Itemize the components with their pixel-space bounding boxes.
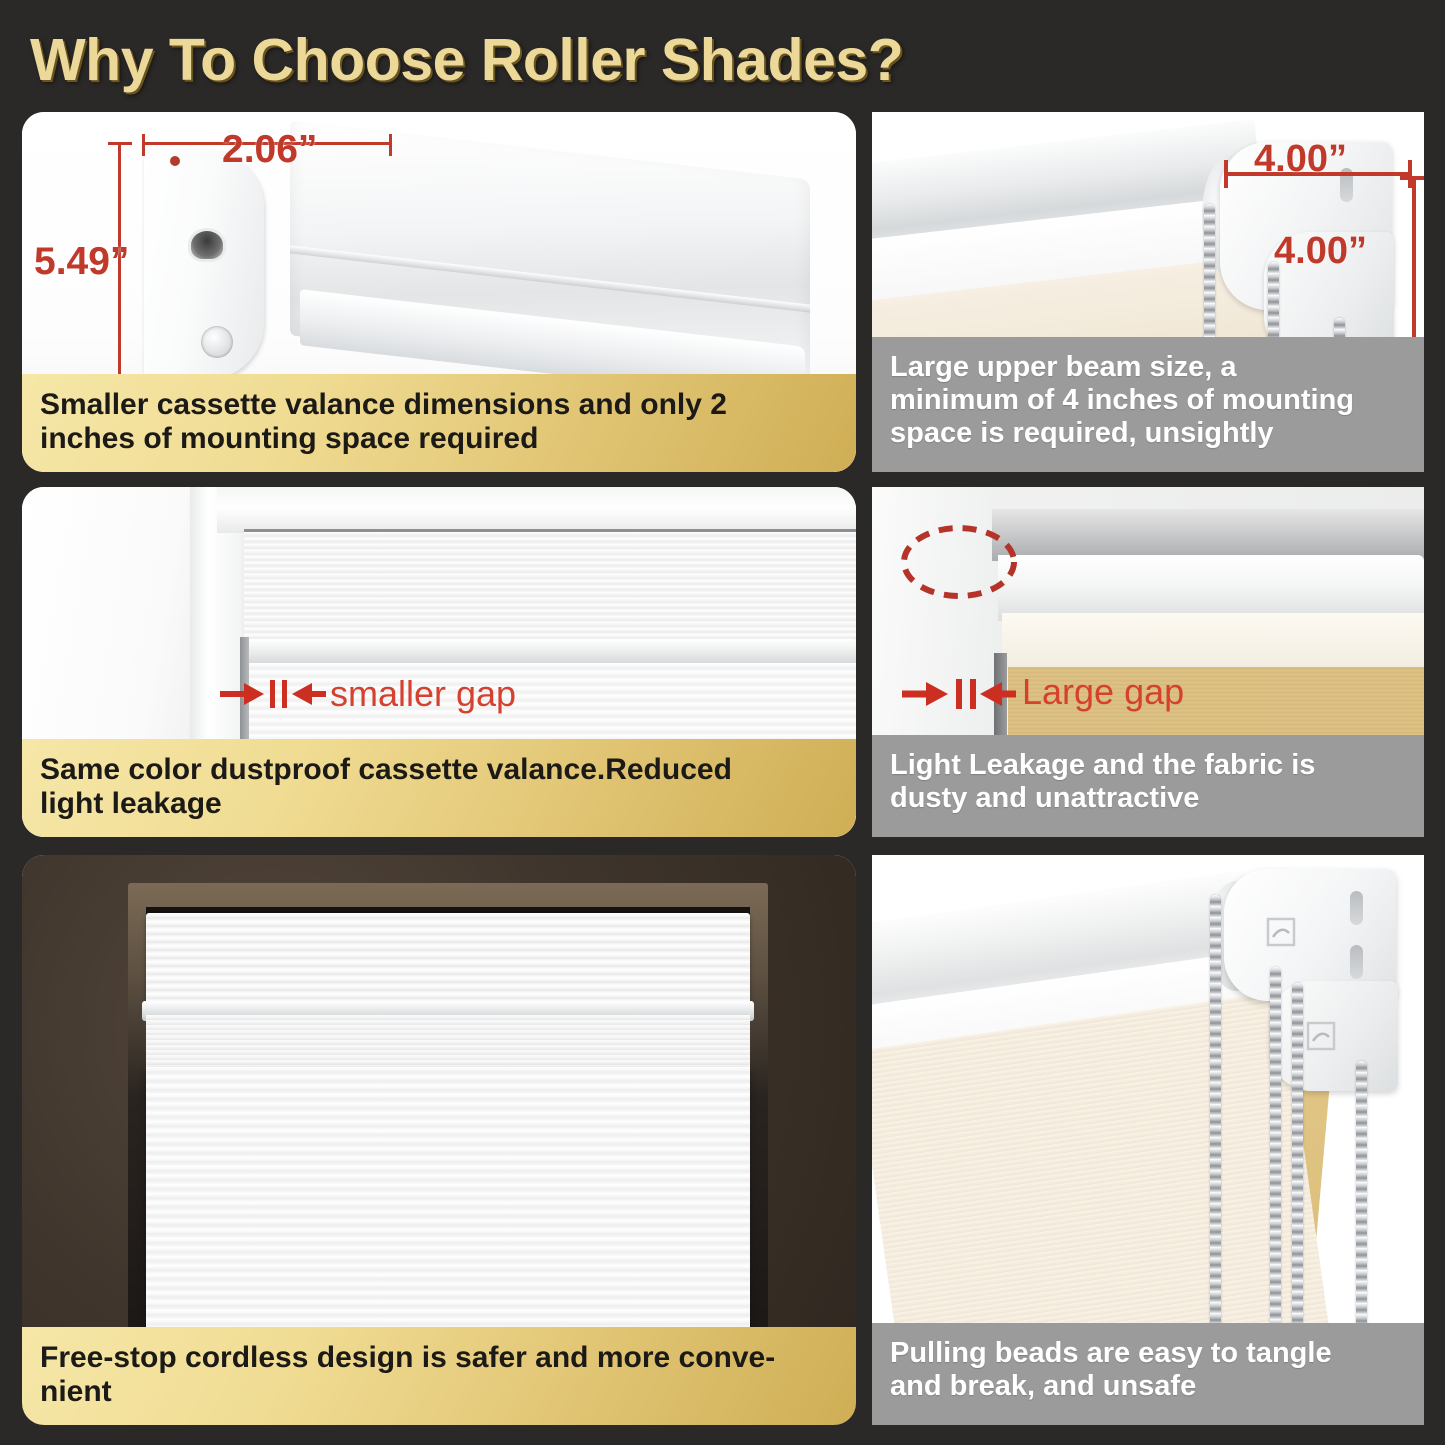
caption-line-1: Light Leakage and the fabric is (890, 749, 1406, 782)
screw-icon (201, 326, 233, 358)
bracket-slot-icon (1350, 945, 1363, 979)
caption-line-2: minimum of 4 inches of mounting (890, 384, 1406, 417)
caption-line-1: Free-stop cordless design is safer and m… (40, 1341, 838, 1375)
caption-line-2: dusty and unattractive (890, 782, 1406, 815)
cassette-valance (146, 913, 750, 1005)
caption-cassette-valance-dimensions: Smaller cassette valance dimensions and … (22, 374, 856, 472)
caption-line-3: space is required, unsightly (890, 417, 1406, 450)
gap-callout-label: Large gap (1022, 671, 1184, 713)
width-dimension-label: 4.00” (1254, 138, 1347, 181)
valance-end-cap (144, 150, 264, 380)
caption-line-2: light leakage (40, 787, 838, 821)
panel-dustproof-cassette-valance: smaller gap Same color dustproof cassett… (22, 487, 856, 837)
panel-cordless-free-stop-design: Free-stop cordless design is safer and m… (22, 855, 856, 1425)
caption-line-2: and break, and unsafe (890, 1370, 1406, 1403)
width-dim-tick-right (389, 134, 392, 156)
height-dim-tick-top (1400, 176, 1424, 180)
cassette-valance (244, 529, 856, 647)
bracket-slot-icon (1350, 891, 1363, 925)
bead-chain (1210, 895, 1221, 1397)
upper-beam (998, 555, 1424, 621)
comparison-grid: 2.06” 5.49” Smaller cassette valance dim… (0, 0, 1445, 1445)
width-dim-tick-left (142, 134, 145, 156)
height-dimension-label: 4.00” (1274, 230, 1367, 273)
caption-line-1: Pulling beads are easy to tangle (890, 1337, 1406, 1370)
caption-cordless-free-stop-design: Free-stop cordless design is safer and m… (22, 1327, 856, 1425)
bracket-emblem-icon (1304, 1019, 1338, 1053)
caption-light-leakage: Light Leakage and the fabric is dusty an… (872, 735, 1424, 837)
gap-arrow-left-icon (900, 677, 1018, 711)
caption-line-1: Smaller cassette valance dimensions and … (40, 388, 838, 422)
height-dim-tick-top (108, 142, 132, 145)
panel-large-upper-beam: 4.00” 4.00” Large upper beam size, a min… (872, 112, 1424, 472)
dimension-anchor-dot (170, 156, 180, 166)
caption-large-upper-beam: Large upper beam size, a minimum of 4 in… (872, 337, 1424, 472)
shade-rail (248, 639, 856, 665)
panel-light-leakage: Large gap Light Leakage and the fabric i… (872, 487, 1424, 837)
width-dimension-label: 2.06” (222, 128, 317, 172)
window-frame-top (217, 487, 856, 533)
caption-line-1: Large upper beam size, a (890, 351, 1406, 384)
bracket-slot-icon (188, 228, 226, 262)
highlight-circle-icon (894, 517, 1024, 607)
bracket-emblem-icon (1264, 915, 1298, 949)
gap-callout-label: smaller gap (330, 673, 516, 715)
caption-dustproof-cassette-valance: Same color dustproof cassette valance.Re… (22, 739, 856, 837)
caption-line-2: inches of mounting space required (40, 422, 838, 456)
caption-pulling-beads-chain: Pulling beads are easy to tangle and bre… (872, 1323, 1424, 1425)
panel-pulling-beads-chain: Pulling beads are easy to tangle and bre… (872, 855, 1424, 1425)
gap-arrow-left-icon (218, 677, 328, 711)
caption-line-2: nient (40, 1375, 838, 1409)
mounting-bracket-lower (1270, 981, 1398, 1091)
height-dimension-label: 5.49” (34, 240, 129, 284)
panel-cassette-valance-dimensions: 2.06” 5.49” Smaller cassette valance dim… (22, 112, 856, 472)
width-dim-tick-left (1224, 160, 1228, 188)
caption-line-1: Same color dustproof cassette valance.Re… (40, 753, 838, 787)
